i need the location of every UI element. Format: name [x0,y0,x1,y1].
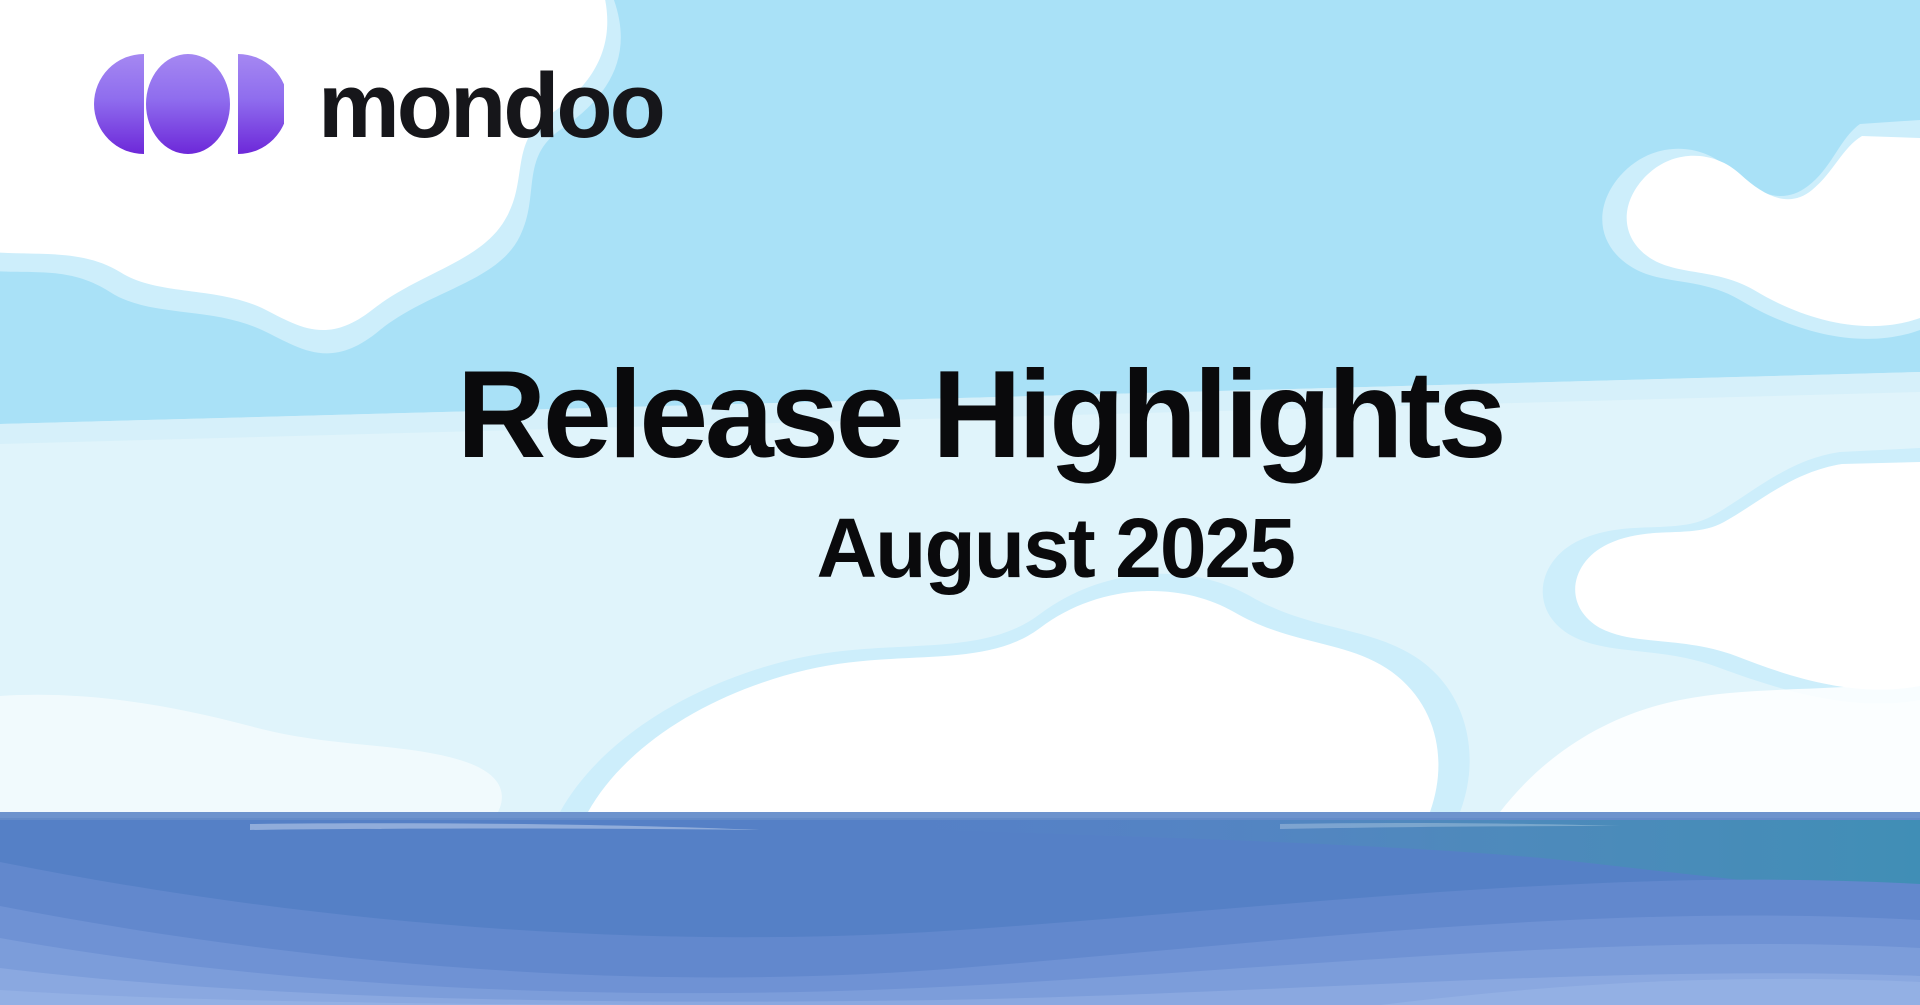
mondoo-mark-icon [88,52,284,156]
release-highlights-banner: mondoo Release Highlights August 2025 [0,0,1920,1005]
mondoo-logo: mondoo [88,52,663,156]
mondoo-wordmark: mondoo [318,60,663,152]
